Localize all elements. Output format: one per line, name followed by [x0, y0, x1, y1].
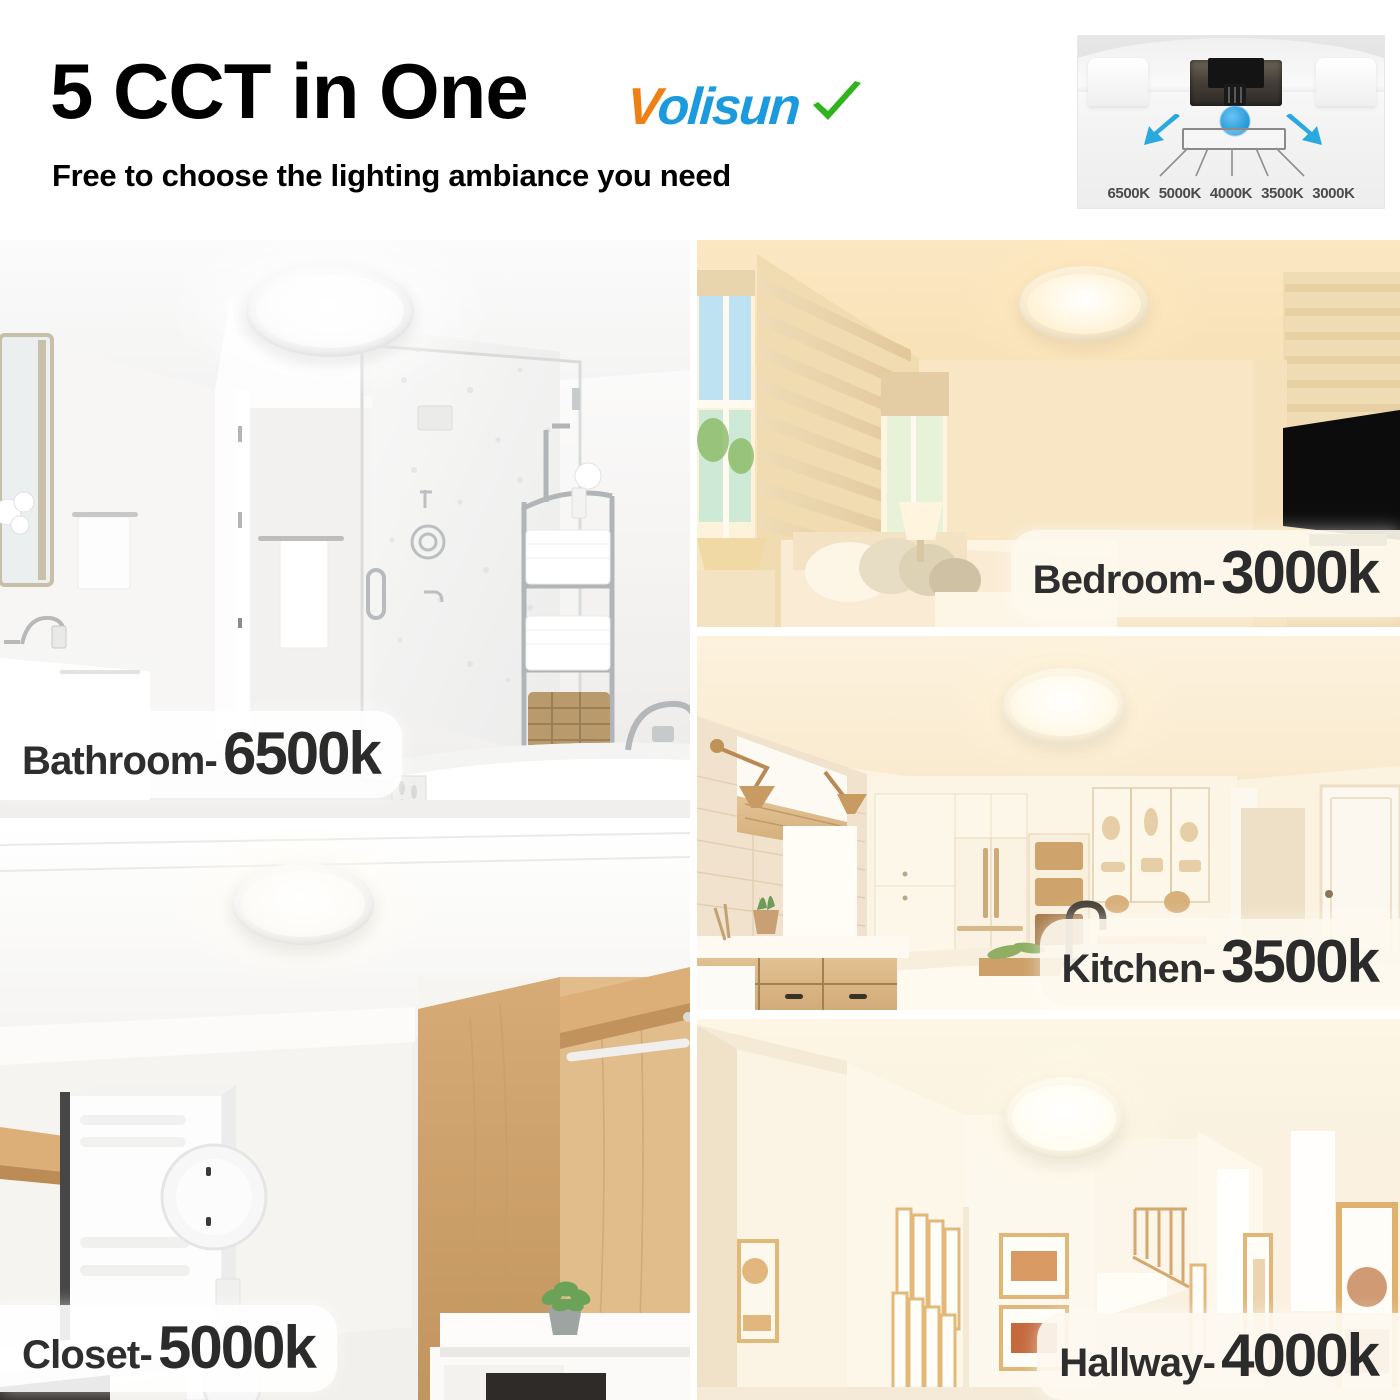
callout-kitchen: Kitchen- 3500k — [1040, 919, 1400, 1006]
cct-label-3000k: 3000K — [1312, 185, 1354, 202]
callout-room-label: Closet- — [22, 1333, 152, 1378]
callout-kelvin-value: 5000k — [158, 1313, 315, 1382]
scene-panel-kitchen[interactable]: Kitchen- 3500k — [697, 636, 1400, 1010]
callout-kelvin-value: 3500k — [1221, 927, 1378, 996]
ceiling-lamp-kitchen — [1003, 668, 1125, 744]
callout-bathroom: Bathroom- 6500k — [0, 711, 402, 798]
page-subtitle: Free to choose the lighting ambiance you… — [52, 158, 731, 194]
lamp-lens — [1010, 676, 1117, 737]
ceiling-lamp-closet — [232, 863, 374, 945]
callout-kelvin-value: 3000k — [1221, 538, 1378, 607]
cct-label-4000k: 4000K — [1210, 185, 1252, 202]
scene-panel-bedroom[interactable]: Bedroom- 3000k — [697, 240, 1400, 627]
cct-temperature-labels: 6500K 5000K 4000K 3500K 3000K — [1078, 185, 1384, 202]
callout-kelvin-value: 4000k — [1221, 1321, 1378, 1390]
scene-photo-grid: Bathroom- 6500k — [0, 240, 1400, 1400]
cct-label-6500k: 6500K — [1107, 185, 1149, 202]
lamp-lens — [1027, 274, 1141, 335]
cct-label-3500k: 3500K — [1261, 185, 1303, 202]
cct-label-5000k: 5000K — [1159, 185, 1201, 202]
callout-room-label: Kitchen- — [1062, 947, 1216, 992]
lamp-lens — [1012, 1085, 1116, 1151]
callout-bedroom: Bedroom- 3000k — [1011, 530, 1400, 617]
lamp-lens — [241, 871, 366, 937]
callout-hallway: Hallway- 4000k — [1037, 1313, 1400, 1400]
callout-closet: Closet- 5000k — [0, 1305, 337, 1392]
cct-leader-lines — [1078, 36, 1384, 208]
brand-letters-rest: olisun — [656, 78, 801, 136]
ceiling-lamp-hallway — [1005, 1077, 1123, 1159]
scene-panel-hallway[interactable]: Hallway- 4000k — [697, 1019, 1400, 1400]
lamp-lens — [256, 274, 404, 348]
callout-room-label: Bedroom- — [1033, 558, 1216, 603]
callout-kelvin-value: 6500k — [223, 719, 380, 788]
brand-letter-v: V — [625, 78, 660, 136]
callout-room-label: Hallway- — [1059, 1341, 1215, 1386]
scene-panel-bathroom[interactable]: Bathroom- 6500k — [0, 240, 690, 818]
brand-logo: Volisun — [627, 80, 865, 133]
ceiling-lamp-bathroom — [246, 265, 414, 357]
callout-room-label: Bathroom- — [22, 739, 217, 784]
green-check-icon — [809, 80, 865, 133]
page-title: 5 CCT in One — [50, 52, 528, 130]
ceiling-lamp-bedroom — [1019, 266, 1149, 342]
brand-wordmark: Volisun — [625, 81, 801, 133]
cct-selector-inset: 6500K 5000K 4000K 3500K 3000K — [1078, 36, 1384, 208]
scene-panel-closet[interactable]: Closet- 5000k — [0, 827, 690, 1400]
